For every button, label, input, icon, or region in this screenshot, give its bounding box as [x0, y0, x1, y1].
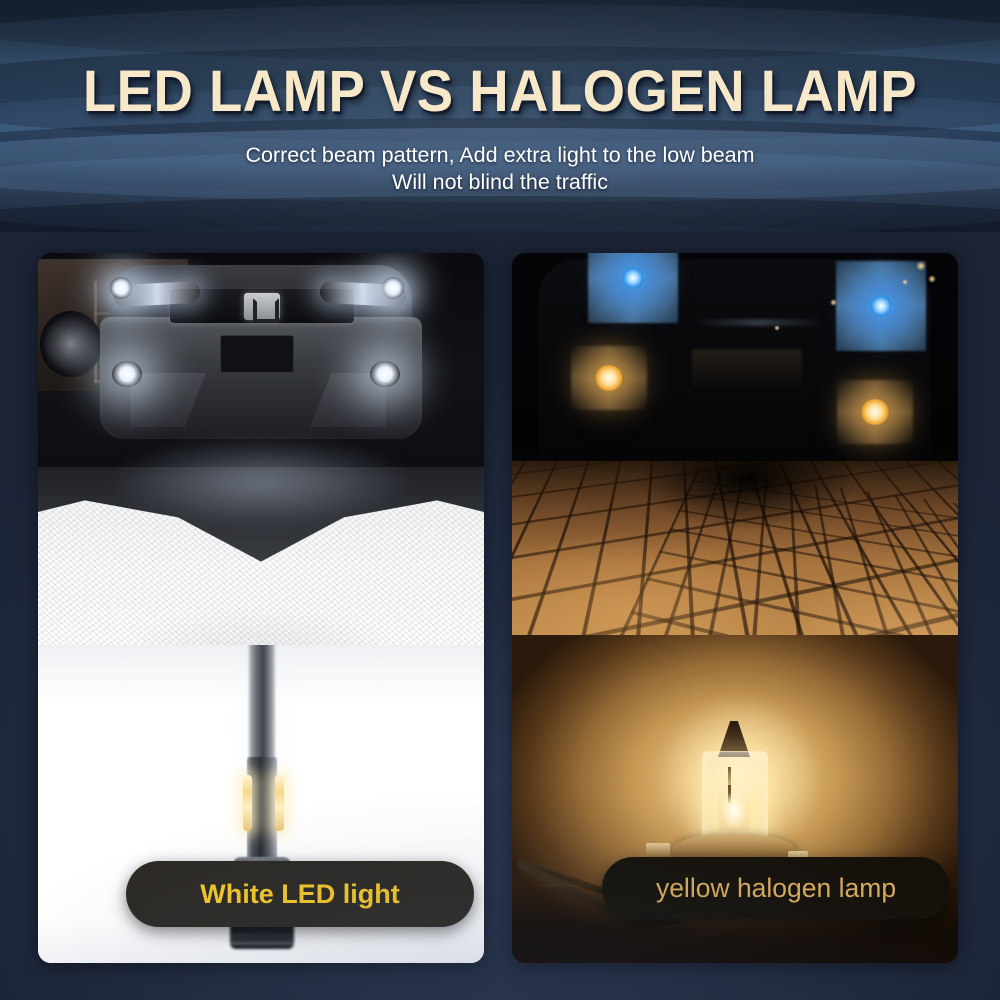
right-fog-light: [370, 361, 400, 387]
background-city-light: [830, 299, 837, 306]
halogen-base-tab: [646, 843, 670, 857]
photo-civic-white-led-beam: [38, 253, 484, 647]
page-title: LED LAMP VS HALOGEN LAMP: [30, 58, 970, 125]
right-amber-fog-light: [860, 399, 890, 425]
subtitle-line-1: Correct beam pattern, Add extra light to…: [245, 143, 754, 167]
page-subtitle: Correct beam pattern, Add extra light to…: [0, 142, 1000, 196]
comparison-panels: White LED light yellow halogen lamp: [38, 253, 962, 963]
white-led-light-label: White LED light: [126, 861, 474, 927]
right-blue-headlight: [868, 293, 894, 319]
car-grille: [692, 349, 802, 391]
product-comparison-page: LED LAMP VS HALOGEN LAMP Correct beam pa…: [0, 0, 1000, 1000]
photo-halogen-night-car: [512, 253, 958, 639]
car-hood-highlight: [694, 319, 824, 326]
adjacent-car-wheel: [40, 311, 102, 377]
background-city-light: [916, 261, 926, 271]
background-city-light: [928, 275, 936, 283]
led-comparison-panel[interactable]: [38, 253, 484, 963]
led-chip-right: [275, 775, 284, 831]
car-shadow: [608, 461, 888, 575]
left-amber-fog-light: [594, 365, 624, 391]
yellow-halogen-lamp-label: yellow halogen lamp: [602, 857, 950, 919]
right-headlight-core: [382, 277, 404, 299]
subtitle-line-2: Will not blind the traffic: [0, 169, 1000, 196]
led-chip-left: [243, 775, 252, 831]
left-blue-headlight: [620, 265, 646, 291]
tiled-pavement: [512, 461, 958, 639]
background-city-light: [902, 279, 908, 285]
led-bulb-neck: [249, 645, 275, 761]
background-city-light: [774, 325, 780, 331]
license-plate-holder: [220, 335, 294, 373]
halogen-filament-glow: [718, 785, 750, 831]
honda-emblem-icon: [244, 293, 280, 320]
left-fog-light: [112, 361, 142, 387]
header-banner: LED LAMP VS HALOGEN LAMP Correct beam pa…: [0, 0, 1000, 232]
left-headlight-core: [110, 277, 132, 299]
